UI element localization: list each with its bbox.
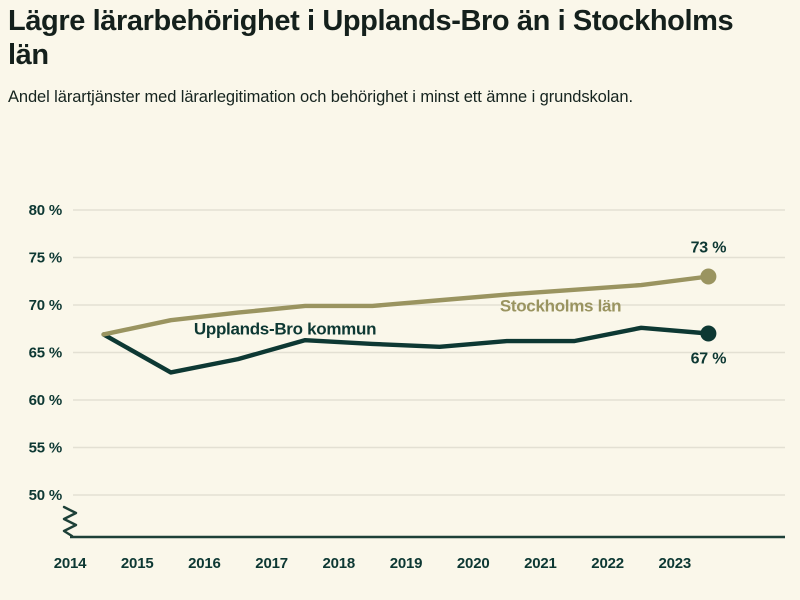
- x-axis-tick-label: 2021: [524, 555, 557, 572]
- series-line: [104, 277, 709, 335]
- endpoint-value-label: 73 %: [691, 240, 727, 257]
- y-axis-tick-label: 60 %: [29, 392, 62, 409]
- series-endpoint-marker: [700, 326, 716, 342]
- series-endpoint-marker: [700, 269, 716, 285]
- series-name-label: Upplands-Bro kommun: [194, 319, 376, 338]
- chart-header: Lägre lärarbehörighet i Upplands-Bro än …: [8, 4, 768, 110]
- y-axis-tick-label: 65 %: [29, 345, 62, 362]
- x-axis-tick-label: 2020: [457, 555, 490, 572]
- y-axis-tick-label: 80 %: [29, 202, 62, 219]
- x-axis-tick-label: 2019: [390, 555, 423, 572]
- y-axis-tick-label: 55 %: [29, 440, 62, 457]
- gridlines: [73, 210, 785, 495]
- x-axis-tick-label: 2015: [121, 555, 154, 572]
- x-axis-tick-label: 2018: [323, 555, 356, 572]
- axis-break-icon: [64, 507, 76, 536]
- series-name-label: Stockholms län: [500, 297, 621, 316]
- y-axis-tick-label: 75 %: [29, 250, 62, 267]
- x-axis-tick-label: 2023: [659, 555, 692, 572]
- x-axis-tick-label: 2016: [188, 555, 221, 572]
- series-line: [104, 328, 709, 373]
- chart-page: Lägre lärarbehörighet i Upplands-Bro än …: [0, 0, 800, 600]
- endpoint-value-labels: 67 %73 %: [691, 240, 727, 368]
- y-axis-tick-labels: 50 %55 %60 %65 %70 %75 %80 %: [29, 202, 62, 504]
- data-series: [104, 269, 717, 373]
- page-title: Lägre lärarbehörighet i Upplands-Bro än …: [8, 4, 768, 72]
- x-axis: [64, 507, 785, 537]
- endpoint-value-label: 67 %: [691, 351, 727, 368]
- chart-subtitle: Andel lärartjänster med lärarlegitimatio…: [8, 86, 768, 110]
- y-axis-tick-label: 70 %: [29, 297, 62, 314]
- series-inline-labels: Upplands-Bro kommunStockholms län: [194, 297, 621, 339]
- x-axis-tick-label: 2014: [54, 555, 87, 572]
- x-axis-tick-label: 2017: [255, 555, 288, 572]
- x-axis-tick-labels: 2014201520162017201820192020202120222023: [54, 555, 691, 572]
- x-axis-tick-label: 2022: [591, 555, 624, 572]
- y-axis-tick-label: 50 %: [29, 487, 62, 504]
